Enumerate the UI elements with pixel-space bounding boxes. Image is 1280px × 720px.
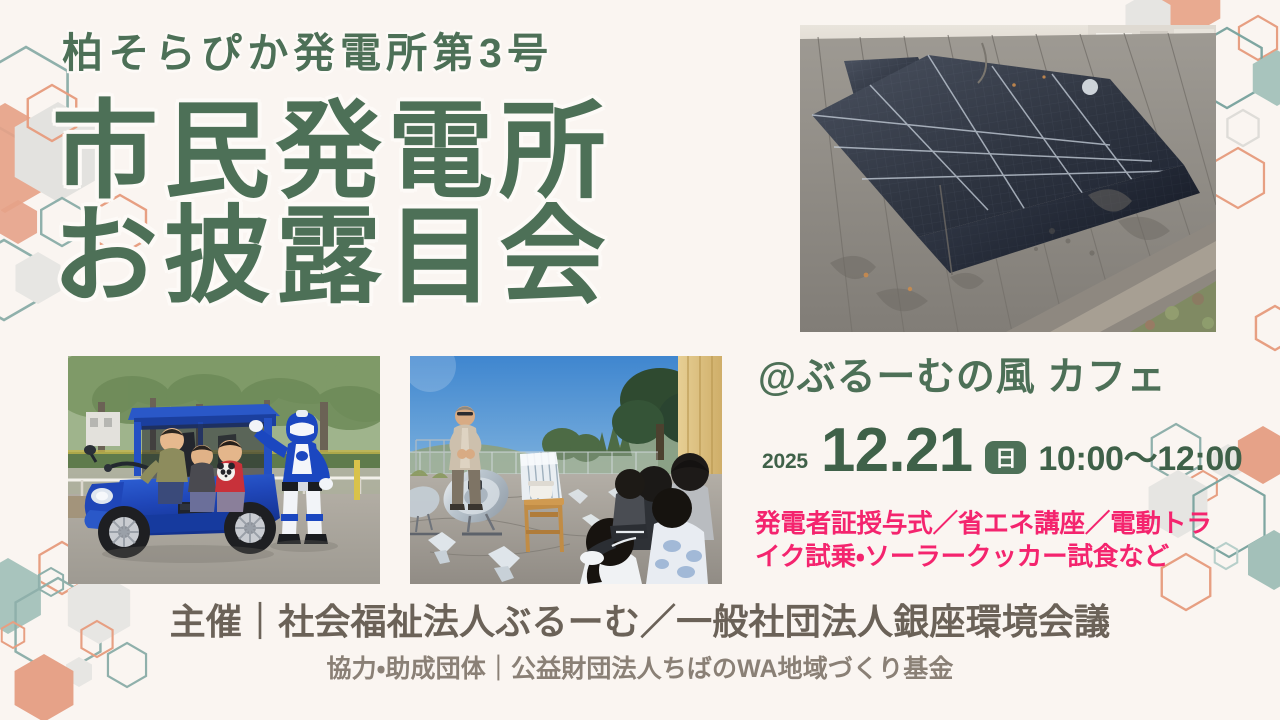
event-year: 2025 — [762, 451, 808, 479]
poster-title-line1: 市民発電所 — [52, 100, 812, 205]
support-organizations: 協力・助成団体｜公益財団法人ちばのWA地域づくり基金 — [0, 657, 1280, 682]
solar-panel-array-photo — [800, 25, 1216, 332]
hex-topright-coral-outline — [1239, 16, 1277, 60]
hex-topright-teal-fill — [1253, 50, 1280, 106]
event-date-row: 2025 12.21 日 10:00〜12:00 — [762, 424, 1243, 479]
solar-cooker-demo-photo — [410, 356, 722, 584]
poster-subtitle: 柏そらぴか発電所第3号 — [62, 33, 553, 74]
hex-left-coral-fill-large — [0, 103, 53, 213]
weekday-badge: 日 — [985, 441, 1026, 474]
hex-left-coral-fill-small — [0, 200, 37, 244]
electric-trike-photo — [68, 356, 380, 584]
hex-right-teal-fill-lower — [1248, 530, 1280, 590]
event-month-day: 12.21 — [821, 424, 972, 479]
activities-text: 発電者証授与式／省エネ講座／電動トライク試乗・ソーラークッカー試食など — [755, 508, 1225, 575]
hex-right-coral-fill-mid — [1238, 426, 1280, 484]
poster-title: 市民発電所 お披露目会 — [52, 100, 812, 310]
hex-bottomleft-teal-outline-small — [39, 568, 63, 596]
poster-title-line2: お披露目会 — [52, 205, 812, 310]
hex-topright-coral-outline-lower — [1212, 148, 1264, 208]
event-time-range: 10:00〜12:00 — [1038, 442, 1242, 479]
hex-topright-gray-outline — [1227, 110, 1258, 146]
venue-label: @ぶるーむの風 カフェ — [758, 358, 1166, 397]
hex-right-coral-outline-edge — [1256, 306, 1280, 350]
poster-canvas: 柏そらぴか発電所第3号 市民発電所 お披露目会 @ぶるーむの風 カフェ 2025… — [0, 0, 1280, 720]
host-organizations: 主催｜社会福祉法人ぶるーむ／一般社団法人銀座環境会議 — [0, 604, 1280, 640]
hex-left-teal-outline-lower — [0, 240, 39, 320]
